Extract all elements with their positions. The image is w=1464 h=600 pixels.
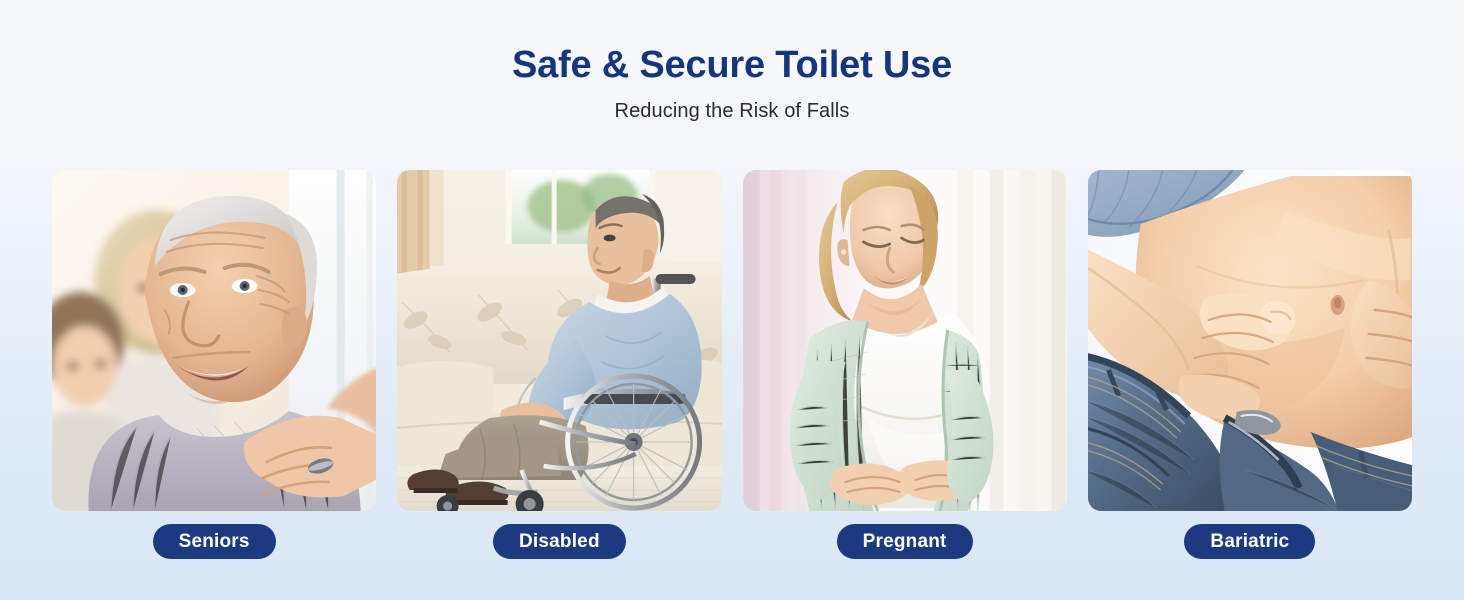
card-bariatric[interactable] — [1088, 170, 1412, 511]
page-title: Safe & Secure Toilet Use — [0, 44, 1464, 88]
pill-disabled[interactable]: Disabled — [493, 524, 626, 559]
pregnant-woman-photo — [743, 170, 1067, 511]
banner-heading-group: Safe & Secure Toilet Use Reducing the Ri… — [0, 0, 1464, 123]
senior-man-with-family-photo — [52, 170, 376, 511]
pill-seniors[interactable]: Seniors — [153, 524, 276, 559]
pill-bariatric[interactable]: Bariatric — [1184, 524, 1315, 559]
label-slot-bariatric: Bariatric — [1088, 524, 1412, 559]
pill-pregnant[interactable]: Pregnant — [837, 524, 973, 559]
card-seniors[interactable] — [52, 170, 376, 511]
man-in-wheelchair-photo — [397, 170, 721, 511]
label-slot-pregnant: Pregnant — [743, 524, 1067, 559]
card-pregnant[interactable] — [743, 170, 1067, 511]
card-disabled[interactable] — [397, 170, 721, 511]
category-card-row — [52, 170, 1412, 511]
bariatric-midsection-photo — [1088, 170, 1412, 511]
category-label-row: Seniors Disabled Pregnant Bariatric — [52, 524, 1412, 559]
promo-banner: Safe & Secure Toilet Use Reducing the Ri… — [0, 0, 1464, 600]
label-slot-seniors: Seniors — [52, 524, 376, 559]
label-slot-disabled: Disabled — [397, 524, 721, 559]
page-subtitle: Reducing the Risk of Falls — [0, 100, 1464, 123]
